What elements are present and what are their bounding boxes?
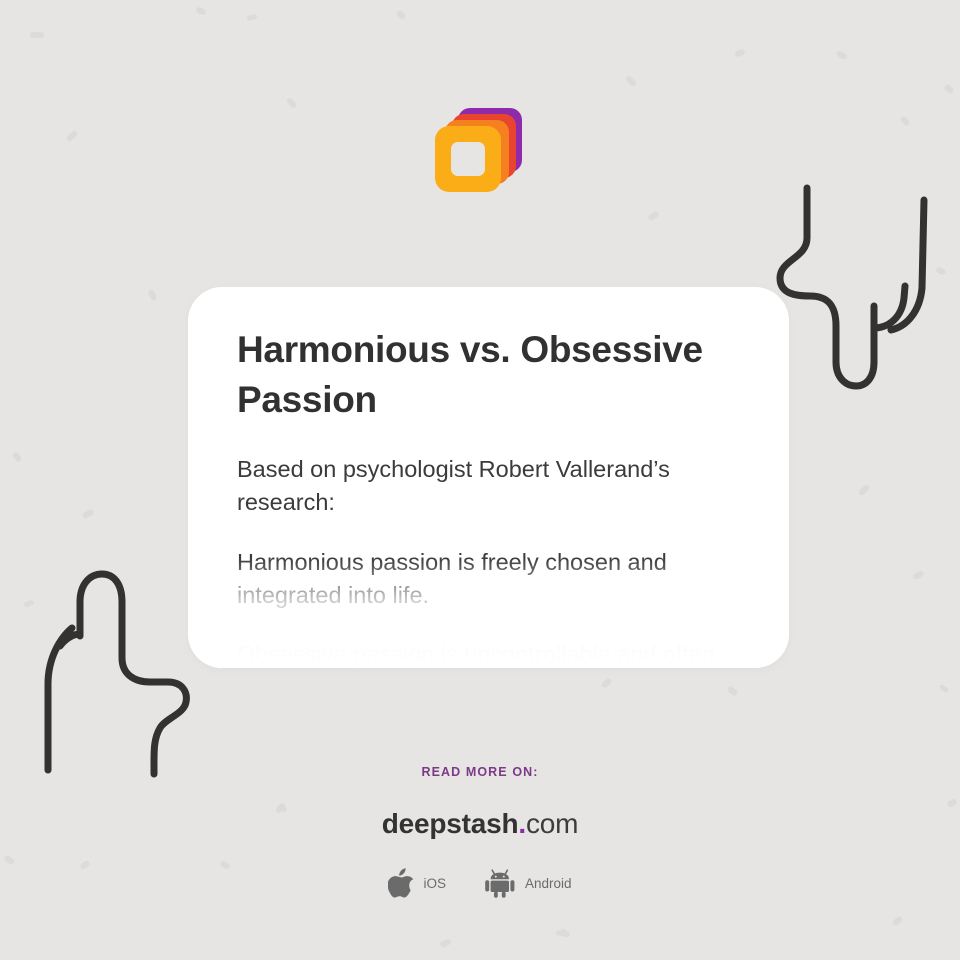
background-speck (625, 75, 637, 88)
logo-layer-amber (435, 126, 501, 192)
brand-wordmark[interactable]: deepstash.com (0, 808, 960, 840)
pointing-hand-icon (22, 562, 200, 782)
background-speck (395, 9, 406, 20)
apple-icon (388, 868, 414, 898)
background-speck (23, 599, 34, 607)
background-speck (12, 451, 23, 463)
idea-card-content: Harmonious vs. Obsessive Passion Based o… (188, 287, 789, 668)
background-speck (600, 677, 612, 689)
background-speck (556, 930, 567, 937)
background-speck (247, 14, 258, 21)
page-title: Harmonious vs. Obsessive Passion (237, 325, 741, 425)
background-speck (938, 684, 949, 694)
brand-dot: . (518, 808, 526, 839)
read-more-label: READ MORE ON: (0, 765, 960, 779)
store-badges: iOS (0, 868, 960, 898)
background-speck (858, 484, 871, 497)
background-speck (81, 508, 94, 519)
background-speck (195, 6, 207, 16)
background-speck (835, 50, 848, 61)
android-store-badge[interactable]: Android (484, 868, 572, 898)
background-speck (30, 32, 44, 38)
background-speck (147, 289, 157, 302)
background-speck (734, 48, 746, 57)
footer: READ MORE ON: deepstash.com iOS (0, 765, 960, 898)
idea-card[interactable]: Harmonious vs. Obsessive Passion Based o… (188, 287, 789, 668)
background-speck (439, 938, 452, 948)
brand-tld: com (526, 808, 578, 839)
ios-store-label: iOS (423, 876, 446, 891)
idea-card-share-image: Harmonious vs. Obsessive Passion Based o… (0, 0, 960, 960)
app-logo (0, 104, 960, 196)
background-speck (943, 83, 954, 94)
card-paragraph-2: Harmonious passion is freely chosen and … (237, 546, 741, 613)
android-store-label: Android (525, 876, 572, 891)
background-speck (647, 210, 659, 222)
background-speck (935, 266, 947, 276)
background-speck (891, 915, 903, 927)
brand-name: deepstash (382, 808, 519, 839)
deepstash-logo-mark (432, 104, 528, 196)
ios-store-badge[interactable]: iOS (388, 868, 446, 898)
background-speck (559, 928, 571, 939)
background-speck (912, 570, 925, 581)
android-icon (484, 868, 516, 898)
background-speck (726, 685, 738, 697)
card-paragraph-1: Based on psychologist Robert Vallerand’s… (237, 453, 741, 520)
card-paragraph-3-truncated: Obsessive passion is uncontrollable and … (237, 638, 741, 668)
